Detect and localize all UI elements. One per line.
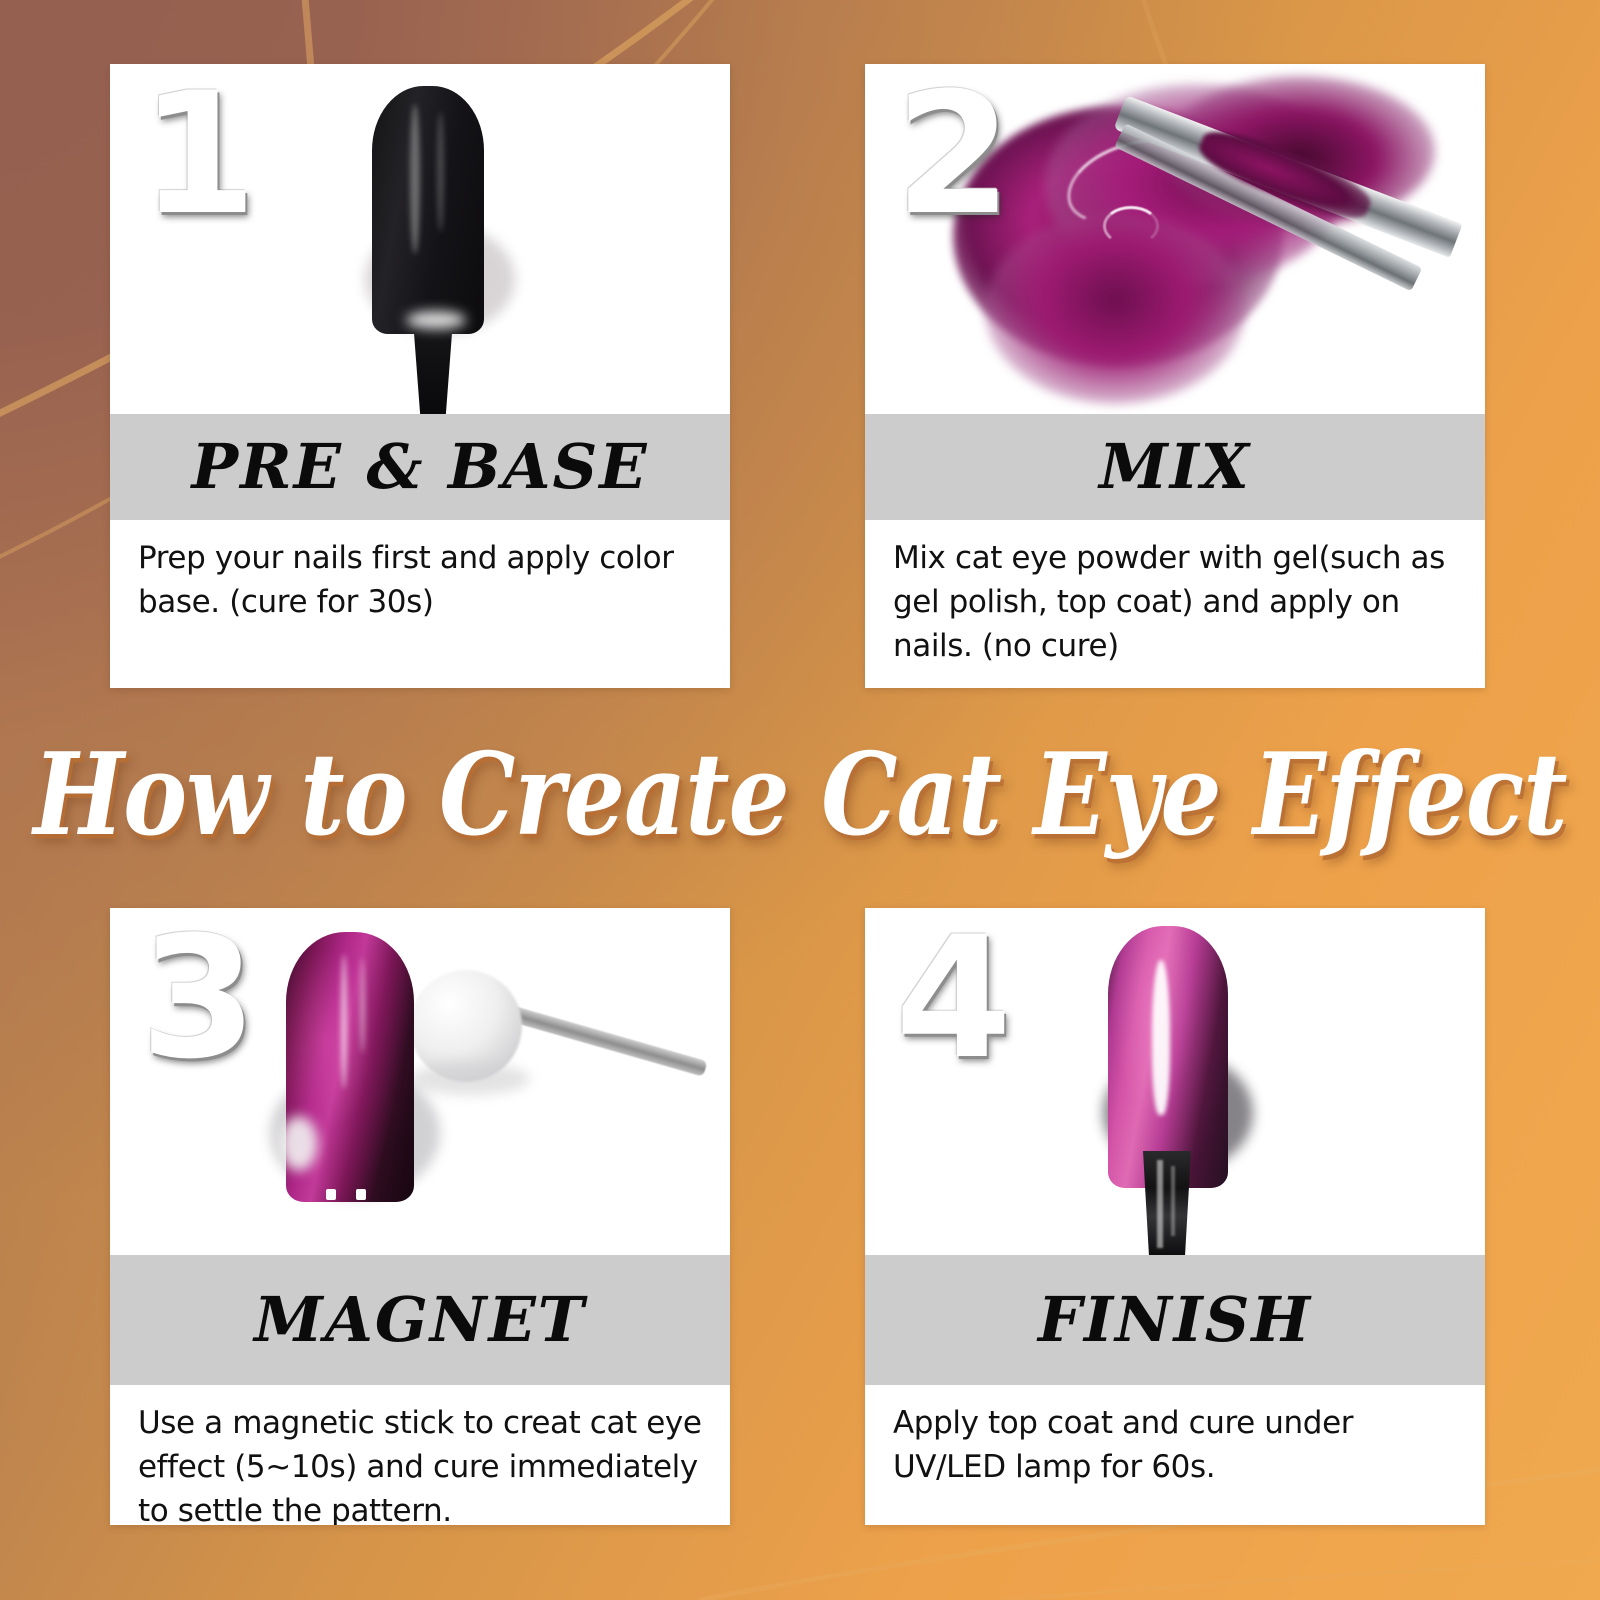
step-4-photo: 4 xyxy=(865,908,1485,1255)
step-1-number: 1 xyxy=(140,70,253,238)
step-4-title: FINISH xyxy=(1038,1289,1312,1351)
step-3-title: MAGNET xyxy=(254,1289,586,1351)
step-2-number: 2 xyxy=(895,70,1008,238)
step-3-photo: 3 xyxy=(110,908,730,1255)
step-1-title: PRE & BASE xyxy=(191,436,648,498)
page-title: How to Create Cat Eye Effect xyxy=(33,738,1566,851)
step-3-description: Use a magnetic stick to creat cat eye ef… xyxy=(110,1385,730,1525)
step-card-2[interactable]: 2 MIX Mix cat eye powder with gel(such a… xyxy=(865,64,1485,688)
step-2-photo: 2 xyxy=(865,64,1485,414)
step-1-description: Prep your nails first and apply color ba… xyxy=(110,520,730,634)
step-card-4[interactable]: 4 FINISH Apply top coat and cure under U… xyxy=(865,908,1485,1525)
step-card-1[interactable]: 1 PRE & BASE Prep your nails first and a… xyxy=(110,64,730,688)
step-1-title-band: PRE & BASE xyxy=(110,414,730,520)
step-card-3[interactable]: 3 MAGNET Use a magnetic stick to creat c… xyxy=(110,908,730,1525)
step-1-photo: 1 xyxy=(110,64,730,414)
step-4-title-band: FINISH xyxy=(865,1255,1485,1385)
step-4-number: 4 xyxy=(895,914,1008,1082)
step-4-description: Apply top coat and cure under UV/LED lam… xyxy=(865,1385,1485,1499)
step-3-number: 3 xyxy=(140,914,253,1082)
step-2-title: MIX xyxy=(1099,436,1251,498)
step-2-description: Mix cat eye powder with gel(such as gel … xyxy=(865,520,1485,678)
step-3-title-band: MAGNET xyxy=(110,1255,730,1385)
step-2-title-band: MIX xyxy=(865,414,1485,520)
headline-banner: How to Create Cat Eye Effect xyxy=(0,735,1600,855)
